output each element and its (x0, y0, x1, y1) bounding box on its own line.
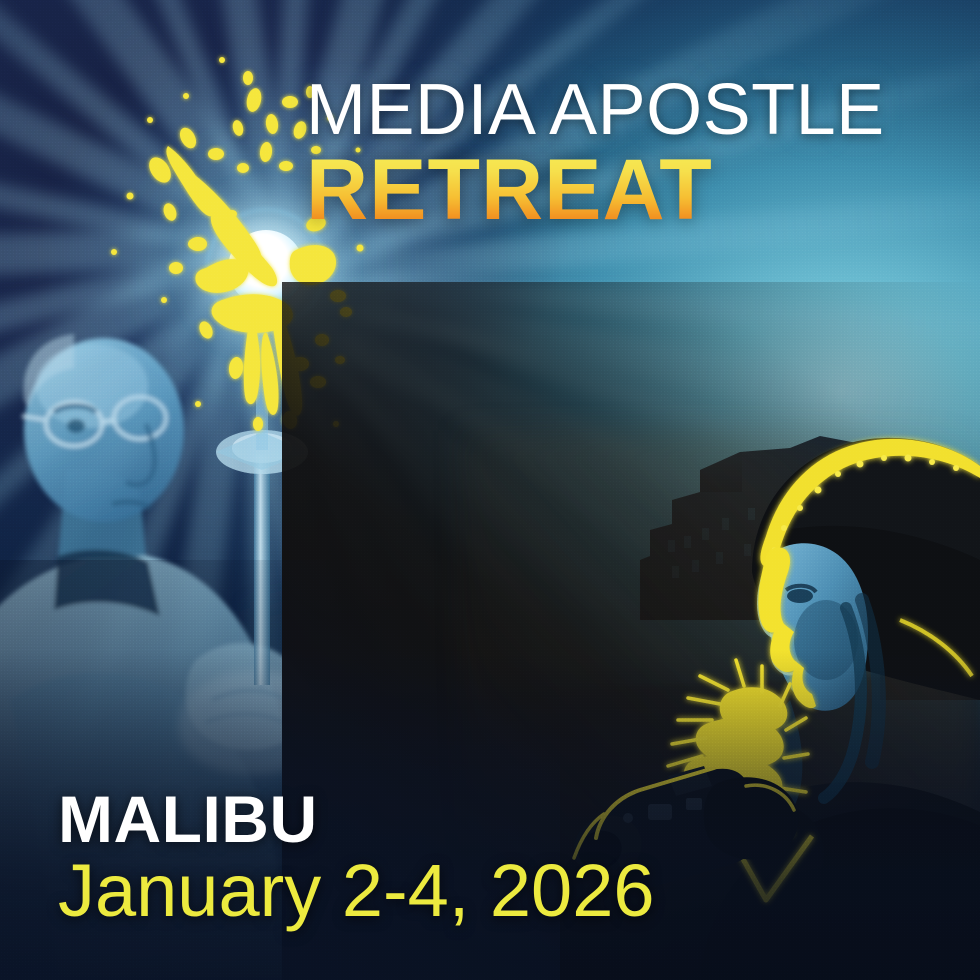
poster-title-line2: RETREAT (306, 150, 946, 232)
poster-footer-block: MALIBU January 2-4, 2026 (58, 786, 655, 928)
poster-canvas: MEDIA APOSTLE RETREAT MALIBU January 2-4… (0, 0, 980, 980)
event-dates: January 2-4, 2026 (58, 854, 655, 928)
poster-title-line1: MEDIA APOSTLE (306, 76, 946, 144)
poster-title-block: MEDIA APOSTLE RETREAT (306, 76, 946, 232)
event-city: MALIBU (58, 786, 655, 852)
